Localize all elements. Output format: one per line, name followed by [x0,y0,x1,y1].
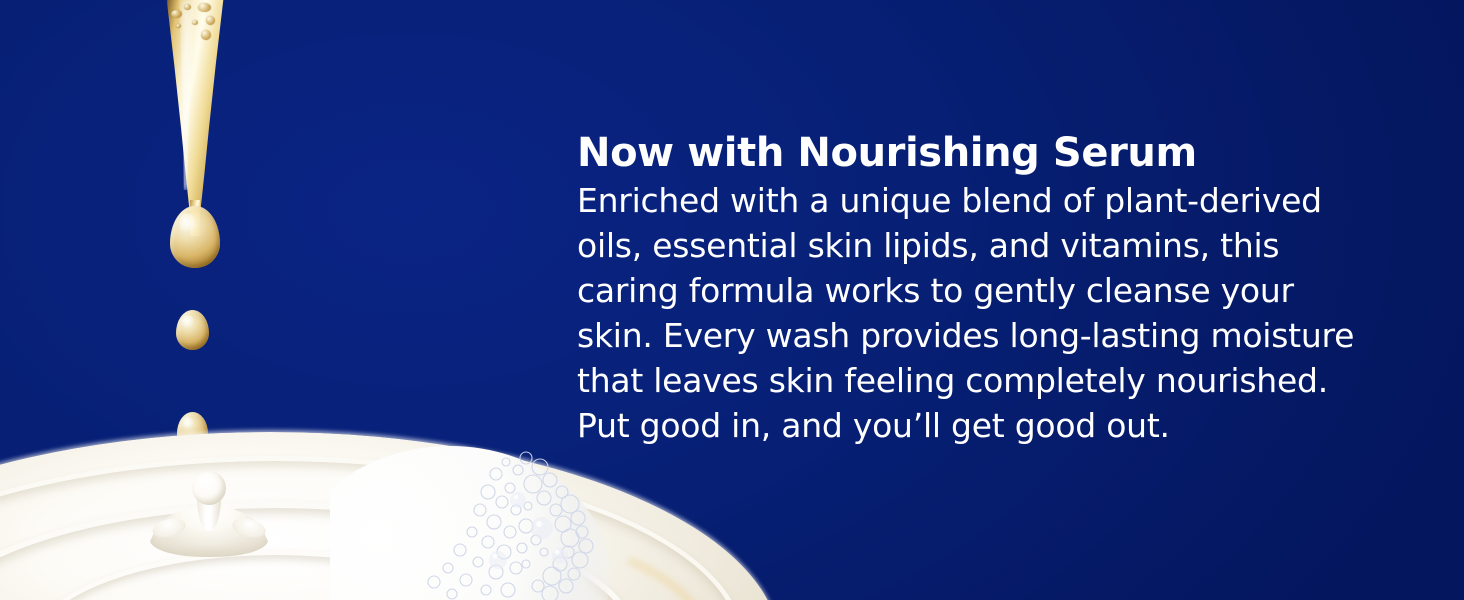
foam-bubbles-icon [330,440,620,600]
body-line: Enriched with a unique blend of plant-de… [577,178,1377,223]
oil-bubbles-icon [168,0,224,48]
crown-splash-icon [150,471,268,557]
body-line: oils, essential skin lipids, and vitamin… [577,223,1377,268]
crown-head [192,471,226,505]
body-line: that leaves skin feeling completely nour… [577,358,1377,403]
page-title: Now with Nourishing Serum [577,130,1377,176]
body-line: Put good in, and you’ll get good out. [577,403,1377,448]
body-paragraph: Enriched with a unique blend of plant-de… [577,178,1377,448]
oil-droplet-medium-icon [176,310,209,350]
product-banner: Now with Nourishing Serum Enriched with … [0,0,1464,600]
body-line: skin. Every wash provides long-lasting m… [577,313,1377,358]
body-line: caring formula works to gently cleanse y… [577,268,1377,313]
copy-block: Now with Nourishing Serum Enriched with … [577,130,1377,448]
